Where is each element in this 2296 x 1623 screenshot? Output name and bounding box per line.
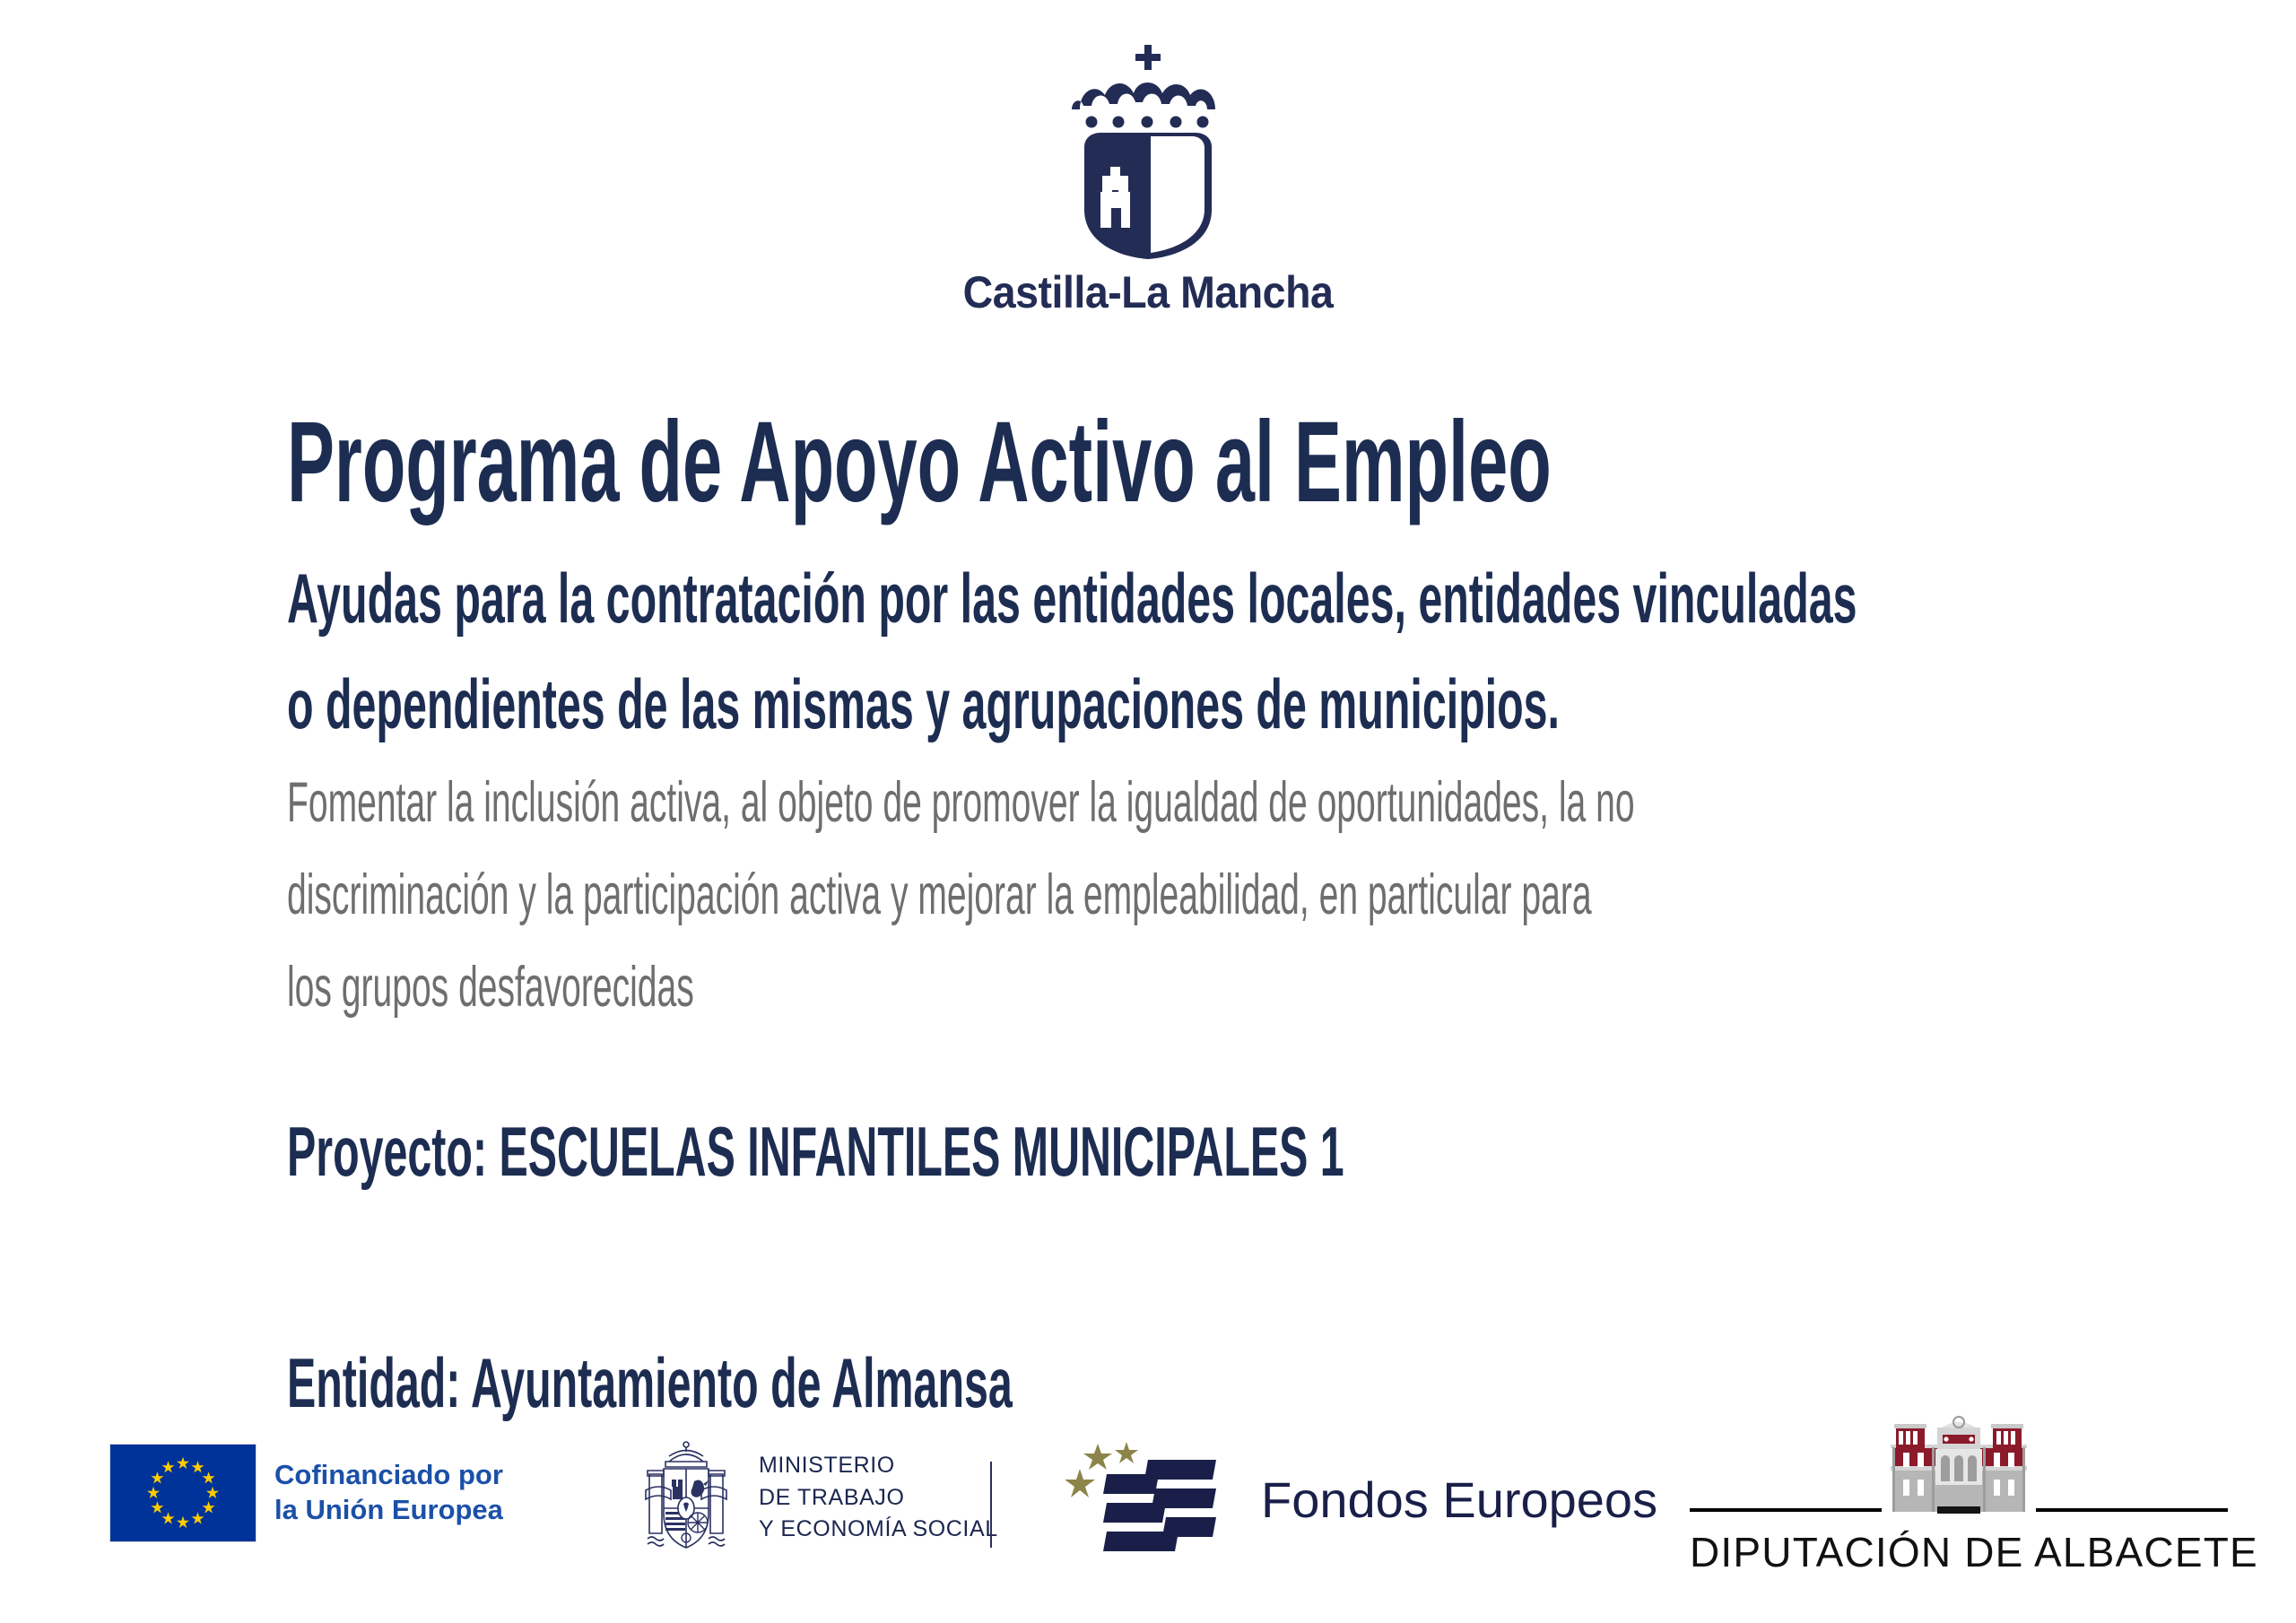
diputacion-albacete-logo: DIPUTACIÓN DE ALBACETE bbox=[1690, 1415, 2228, 1576]
footer-logo-bar: Cofinanciado por la Unión Europea bbox=[0, 1431, 2296, 1610]
ministry-label: MINISTERIO DE TRABAJO Y ECONOMÍA SOCIAL bbox=[759, 1450, 998, 1546]
subtitle-line-2: o dependientes de las mismas y agrupacio… bbox=[287, 669, 2122, 739]
eu-cofunding-logo: Cofinanciado por la Unión Europea bbox=[109, 1444, 503, 1542]
diputacion-rule-left bbox=[1690, 1508, 1882, 1512]
eu-cofunding-label: Cofinanciado por la Unión Europea bbox=[274, 1458, 503, 1528]
institutional-emblem: Castilla-La Mancha bbox=[0, 41, 2296, 318]
emblem-wordmark: Castilla-La Mancha bbox=[81, 266, 2216, 318]
eu-flag-icon bbox=[109, 1444, 257, 1542]
description-line-3: los grupos desfavorecidas bbox=[287, 959, 2122, 1016]
spain-coat-of-arms-icon bbox=[633, 1435, 739, 1561]
ministry-line-3: Y ECONOMÍA SOCIAL bbox=[759, 1516, 998, 1541]
ministry-logo: MINISTERIO DE TRABAJO Y ECONOMÍA SOCIAL bbox=[633, 1435, 998, 1561]
fondos-europeos-logo: Fondos Europeos bbox=[1065, 1440, 1657, 1559]
footer-divider bbox=[990, 1462, 992, 1548]
eu-label-line-1: Cofinanciado por bbox=[274, 1459, 503, 1490]
ministry-line-1: MINISTERIO bbox=[759, 1453, 895, 1478]
diputacion-albacete-label: DIPUTACIÓN DE ALBACETE bbox=[1690, 1528, 2228, 1576]
fondos-europeos-steps-icon bbox=[1065, 1440, 1241, 1559]
diputacion-rule-right bbox=[2036, 1508, 2228, 1512]
description-line-1: Fomentar la inclusión activa, al objeto … bbox=[287, 775, 2122, 831]
ministry-line-2: DE TRABAJO bbox=[759, 1485, 905, 1510]
poster-content: Programa de Apoyo Activo al Empleo Ayuda… bbox=[287, 405, 2090, 1418]
diputacion-emblem bbox=[1690, 1415, 2228, 1523]
page-title: Programa de Apoyo Activo al Empleo bbox=[287, 405, 2122, 520]
description-line-2: discriminación y la participación activa… bbox=[287, 867, 2122, 924]
subtitle-line-1: Ayudas para la contratación por las enti… bbox=[287, 563, 2122, 633]
eu-label-line-2: la Unión Europea bbox=[274, 1494, 503, 1525]
fondos-europeos-label: Fondos Europeos bbox=[1261, 1471, 1657, 1529]
castilla-la-mancha-shield-icon bbox=[0, 41, 2296, 261]
entity-line: Entidad: Ayuntamiento de Almansa bbox=[287, 1348, 2122, 1418]
description-block: Fomentar la inclusión activa, al objeto … bbox=[287, 775, 2090, 1016]
albacete-palace-building-icon bbox=[1883, 1415, 2034, 1520]
project-line: Proyecto: ESCUELAS INFANTILES MUNICIPALE… bbox=[287, 1116, 2122, 1186]
subtitle-block: Ayudas para la contratación por las enti… bbox=[287, 563, 2090, 739]
